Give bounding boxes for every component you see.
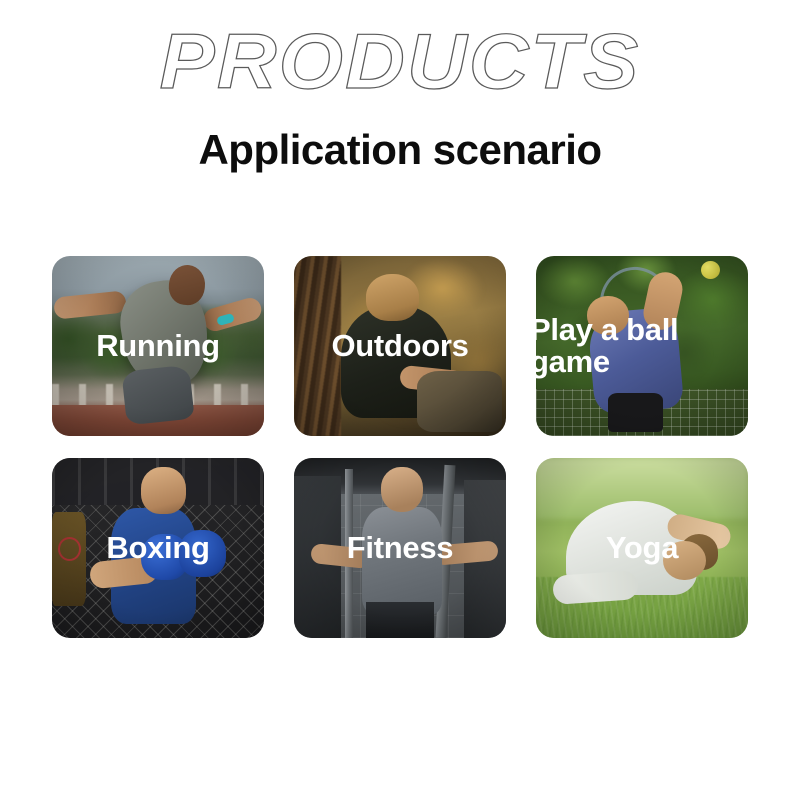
athlete-head [381, 467, 423, 512]
seated-man-head [366, 274, 419, 321]
player-shorts [608, 393, 663, 433]
scenario-card-boxing[interactable]: Boxing [52, 458, 264, 638]
scenario-label-outdoors: Outdoors [331, 330, 468, 362]
scenario-label-yoga: Yoga [606, 532, 678, 564]
page-header: PRODUCTS Application scenario [0, 0, 800, 174]
page-subtitle: Application scenario [0, 100, 800, 174]
scenario-card-ball-game[interactable]: Play a ball game [536, 256, 748, 436]
page-title: PRODUCTS [0, 0, 800, 100]
scenario-label-boxing: Boxing [106, 532, 209, 564]
boxer-head [141, 467, 186, 514]
scenario-card-fitness[interactable]: Fitness [294, 458, 506, 638]
runner-shorts [121, 364, 194, 425]
athlete-legs [366, 602, 434, 638]
backpack [417, 371, 502, 432]
scenario-card-running[interactable]: Running [52, 256, 264, 436]
scenario-label-ball-game: Play a ball game [524, 314, 748, 377]
application-scenario-grid: Running Outdoors Play a ball game [52, 256, 748, 638]
scenario-label-running: Running [96, 330, 220, 362]
scenario-card-outdoors[interactable]: Outdoors [294, 256, 506, 436]
scenario-label-fitness: Fitness [347, 532, 453, 564]
scenario-card-yoga[interactable]: Yoga [536, 458, 748, 638]
